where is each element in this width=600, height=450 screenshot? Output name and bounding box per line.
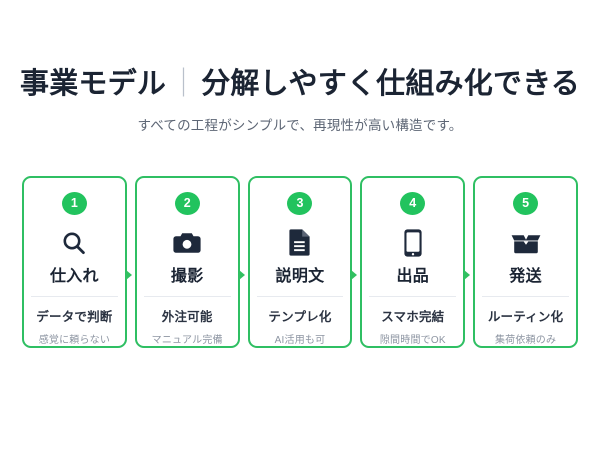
arrow-right-icon	[351, 270, 357, 280]
step-title: 仕入れ	[50, 262, 99, 286]
step-note: マニュアル完備	[152, 331, 223, 346]
step-note: 感覚に頼らない	[39, 331, 110, 346]
page-title-right: 分解しやすく仕組み化できる	[201, 68, 580, 100]
step-title: 撮影	[171, 262, 204, 286]
step-number-badge: 3	[287, 192, 312, 215]
step-subtitle: データで判断	[36, 306, 112, 325]
card-divider	[482, 296, 569, 297]
step-subtitle: 外注可能	[162, 306, 213, 325]
step-title: 発送	[509, 262, 542, 286]
card-divider	[369, 296, 456, 297]
package-box-icon	[510, 225, 542, 260]
page-title-left: 事業モデル	[20, 68, 166, 100]
process-step-cards: 1 仕入れ データで判断 感覚に頼らない 2 撮影	[22, 176, 578, 348]
step-card-4[interactable]: 4 出品 スマホ完結 隙間時間でOK	[360, 176, 465, 348]
header: 事業モデル｜分解しやすく仕組み化できる すべての工程がシンプルで、再現性が高い構…	[0, 0, 600, 134]
camera-icon	[172, 225, 202, 260]
slide-root: 事業モデル｜分解しやすく仕組み化できる すべての工程がシンプルで、再現性が高い構…	[0, 0, 600, 450]
step-subtitle: ルーティン化	[488, 306, 563, 325]
arrow-right-icon	[239, 270, 245, 280]
page-title: 事業モデル｜分解しやすく仕組み化できる	[0, 66, 600, 102]
arrow-right-icon	[464, 270, 470, 280]
step-note: AI活用も可	[275, 331, 326, 346]
step-card-2[interactable]: 2 撮影 外注可能 マニュアル完備	[135, 176, 240, 348]
step-card-3[interactable]: 3 説明文 テンプレ化 AI活用も可	[248, 176, 353, 348]
step-note: 隙間時間でOK	[380, 331, 446, 346]
document-icon	[288, 225, 312, 260]
card-divider	[257, 296, 344, 297]
step-title: 説明文	[276, 262, 325, 286]
card-divider	[31, 296, 118, 297]
step-number-badge: 1	[62, 192, 87, 215]
smartphone-icon	[403, 225, 423, 260]
page-subtitle: すべての工程がシンプルで、再現性が高い構造です。	[0, 114, 600, 134]
step-number-badge: 2	[175, 192, 200, 215]
arrow-right-icon	[126, 270, 132, 280]
step-title: 出品	[396, 262, 429, 286]
step-subtitle: スマホ完結	[381, 306, 444, 325]
search-icon	[60, 225, 88, 260]
card-divider	[144, 296, 231, 297]
step-number-badge: 4	[400, 192, 425, 215]
step-number-badge: 5	[513, 192, 538, 215]
step-note: 集荷依頼のみ	[495, 331, 556, 346]
step-card-5[interactable]: 5 発送 ルーティン化 集荷依頼のみ	[473, 176, 578, 348]
title-separator: ｜	[166, 68, 201, 100]
step-card-1[interactable]: 1 仕入れ データで判断 感覚に頼らない	[22, 176, 127, 348]
step-subtitle: テンプレ化	[268, 306, 331, 325]
